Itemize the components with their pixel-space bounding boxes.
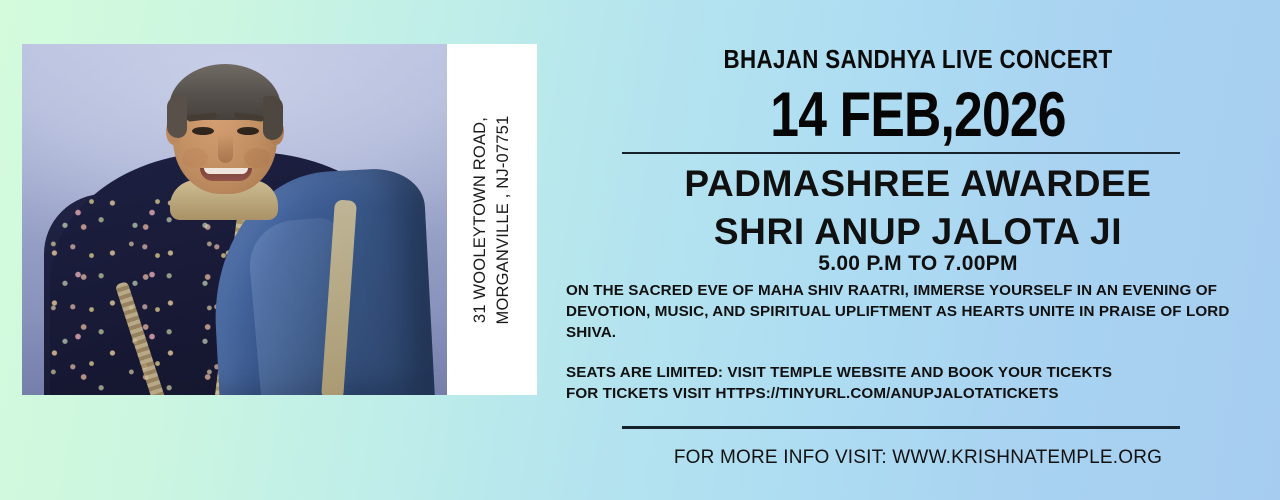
address-line-1: 31 WOOLEYTOWN ROAD, (469, 115, 492, 324)
teeth (204, 168, 248, 174)
divider-bottom (622, 426, 1180, 429)
cheek-right (244, 148, 270, 168)
embroidered-sherwani (44, 194, 234, 395)
venue-address: 31 WOOLEYTOWN ROAD, MORGANVILLE , NJ-077… (469, 115, 515, 324)
event-kicker: BHAJAN SANDHYA LIVE CONCERT (607, 44, 1230, 75)
divider-top (622, 152, 1180, 154)
event-poster: 31 WOOLEYTOWN ROAD, MORGANVILLE , NJ-077… (0, 0, 1280, 500)
address-panel: 31 WOOLEYTOWN ROAD, MORGANVILLE , NJ-077… (447, 44, 537, 395)
ticket-info-line-2: FOR TICKETS VISIT HTTPS://TINYURL.COM/AN… (566, 384, 1234, 405)
footer-website: FOR MORE INFO VISIT: WWW.KRISHNATEMPLE.O… (556, 447, 1280, 469)
nose (218, 134, 233, 163)
ticket-info-line-1: SEATS ARE LIMITED: VISIT TEMPLE WEBSITE … (566, 363, 1234, 384)
eye-left (192, 127, 214, 135)
artist-photo (22, 44, 447, 395)
eye-right (237, 127, 259, 135)
event-description: ON THE SACRED EVE OF MAHA SHIV RAATRI, I… (566, 281, 1234, 344)
ticket-info: SEATS ARE LIMITED: VISIT TEMPLE WEBSITE … (566, 363, 1234, 405)
artist-figure (22, 44, 447, 395)
cheek-left (182, 148, 208, 168)
hair-side-left (167, 96, 187, 138)
address-line-2: MORGANVILLE , NJ-07751 (492, 115, 515, 324)
award-title: PADMASHREE AWARDEE (556, 163, 1280, 205)
hair-side-right (263, 96, 283, 140)
event-time: 5.00 P.M TO 7.00PM (556, 252, 1280, 276)
artist-name: SHRI ANUP JALOTA JI (556, 211, 1280, 253)
poster-content: BHAJAN SANDHYA LIVE CONCERT 14 FEB,2026 … (556, 0, 1280, 500)
event-date: 14 FEB,2026 (621, 84, 1215, 147)
